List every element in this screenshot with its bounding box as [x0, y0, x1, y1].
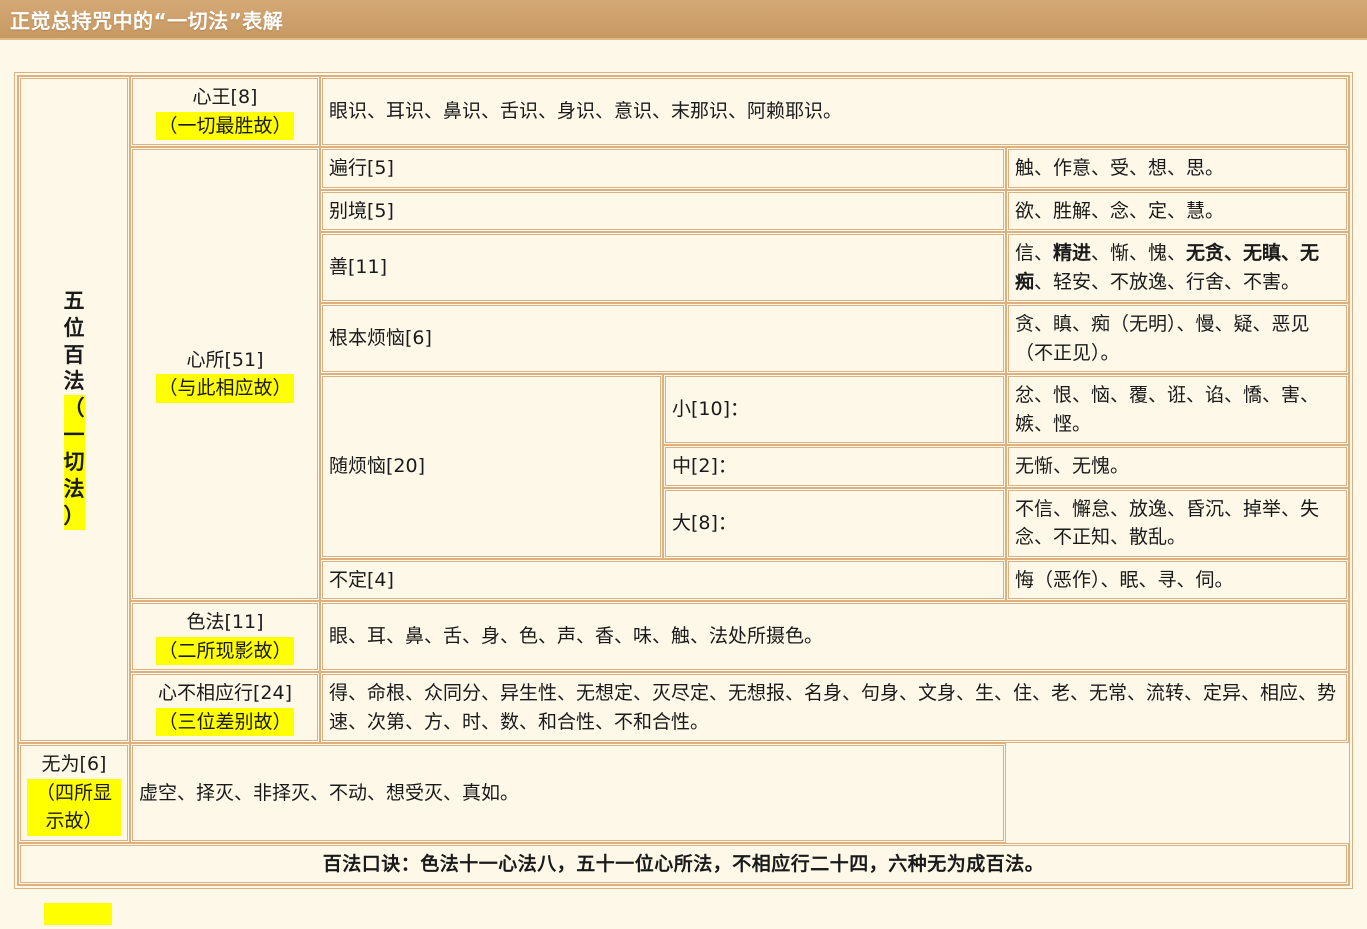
- category-cell-xinsuo: 心所[51] （与此相应故）: [130, 147, 320, 601]
- vertical-title: 五 位 百 法 （ 一 切 法 ）: [64, 288, 85, 530]
- shan-seg: 、惭、愧、: [1091, 242, 1186, 264]
- shan-seg: 、轻安、不放逸、行舍、不害。: [1034, 271, 1300, 293]
- content-xinbuxiangying: 得、命根、众同分、异生性、无想定、灭尽定、无想报、名身、句身、文身、生、住、老、…: [320, 672, 1349, 743]
- category-name: 心不相应行[24]: [139, 679, 311, 708]
- category-reason-highlight: （与此相应故）: [156, 374, 293, 403]
- category-name: 色法[11]: [139, 608, 311, 637]
- page-title: 正觉总持咒中的“一切法”表解: [10, 5, 283, 34]
- category-cell-xinwang: 心王[8] （一切最胜故）: [130, 76, 320, 147]
- spine-char: 法: [64, 368, 85, 395]
- spine-char-highlight: 法: [64, 476, 85, 503]
- spine-char-highlight: ）: [64, 503, 85, 530]
- content-wuwei: 虚空、择灭、非择灭、不动、想受灭、真如。: [130, 743, 1006, 843]
- sublabel-genbenfannao: 根本烦恼[6]: [320, 303, 1006, 374]
- table-row-mnemonic: 百法口诀：色法十一心法八，五十一位心所法，不相应行二十四，六种无为成百法。: [18, 843, 1349, 886]
- category-name: 无为[6]: [27, 750, 121, 779]
- shan-seg: 信、: [1015, 242, 1053, 264]
- category-reason-highlight: （四所显示故）: [27, 779, 121, 836]
- bottom-highlight-strip: [44, 903, 112, 925]
- sublabel-suifannao-da: 大[8]：: [663, 488, 1006, 559]
- content-bianxing: 触、作意、受、想、思。: [1006, 147, 1349, 190]
- table-row: 五 位 百 法 （ 一 切 法 ） 心王[8] （一切最胜故） 眼识、耳: [18, 76, 1349, 147]
- spine-cell-wuweibaifa: 五 位 百 法 （ 一 切 法 ）: [18, 76, 130, 743]
- sublabel-biejing: 别境[5]: [320, 190, 1006, 233]
- sublabel-shan: 善[11]: [320, 232, 1006, 303]
- category-cell-xinbuxiangying: 心不相应行[24] （三位差别故）: [130, 672, 320, 743]
- header-bar: 正觉总持咒中的“一切法”表解: [0, 0, 1367, 40]
- mnemonic-text: 百法口诀：色法十一心法八，五十一位心所法，不相应行二十四，六种无为成百法。: [18, 843, 1349, 886]
- table-row: 无为[6] （四所显示故） 虚空、择灭、非择灭、不动、想受灭、真如。: [18, 743, 1349, 843]
- spine-char-highlight: 一: [64, 422, 85, 449]
- category-reason-highlight: （一切最胜故）: [156, 112, 293, 141]
- sublabel-suifannao-zhong: 中[2]：: [663, 445, 1006, 488]
- sublabel-suifannao-xiao: 小[10]：: [663, 374, 1006, 445]
- content-suifannao-da: 不信、懈怠、放逸、昏沉、掉举、失念、不正知、散乱。: [1006, 488, 1349, 559]
- category-cell-sefa: 色法[11] （二所现影故）: [130, 601, 320, 672]
- bottom-highlight-strip-wrap: [0, 903, 1367, 929]
- content-suifannao-zhong: 无惭、无愧。: [1006, 445, 1349, 488]
- shan-seg-bold: 精进: [1053, 242, 1091, 264]
- content-shan: 信、精进、惭、愧、无贪、无瞋、无痴、轻安、不放逸、行舍、不害。: [1006, 232, 1349, 303]
- spine-char: 位: [64, 315, 85, 342]
- sublabel-buding: 不定[4]: [320, 559, 1006, 602]
- content-biejing: 欲、胜解、念、定、慧。: [1006, 190, 1349, 233]
- sublabel-suifannao: 随烦恼[20]: [320, 374, 663, 559]
- content-buding: 悔（恶作）、眠、寻、伺。: [1006, 559, 1349, 602]
- table-row: 心所[51] （与此相应故） 遍行[5] 触、作意、受、想、思。: [18, 147, 1349, 190]
- spine-char-highlight: 切: [64, 449, 85, 476]
- category-reason-highlight: （二所现影故）: [156, 637, 293, 666]
- table-container: 五 位 百 法 （ 一 切 法 ） 心王[8] （一切最胜故） 眼识、耳: [0, 40, 1367, 889]
- category-reason-highlight: （三位差别故）: [156, 708, 293, 737]
- content-genbenfannao: 贪、瞋、痴（无明）、慢、疑、恶见（不正见）。: [1006, 303, 1349, 374]
- spine-char: 百: [64, 342, 85, 369]
- sublabel-bianxing: 遍行[5]: [320, 147, 1006, 190]
- content-suifannao-xiao: 忿、恨、恼、覆、诳、谄、憍、害、嫉、悭。: [1006, 374, 1349, 445]
- table-row: 色法[11] （二所现影故） 眼、耳、鼻、舌、身、色、声、香、味、触、法处所摄色…: [18, 601, 1349, 672]
- spine-char: 五: [64, 288, 85, 315]
- spine-char-highlight: （: [64, 395, 85, 422]
- content-sefa: 眼、耳、鼻、舌、身、色、声、香、味、触、法处所摄色。: [320, 601, 1349, 672]
- category-cell-wuwei: 无为[6] （四所显示故）: [18, 743, 130, 843]
- table-row: 心不相应行[24] （三位差别故） 得、命根、众同分、异生性、无想定、灭尽定、无…: [18, 672, 1349, 743]
- table-body: 五 位 百 法 （ 一 切 法 ） 心王[8] （一切最胜故） 眼识、耳: [18, 76, 1349, 885]
- category-name: 心所[51]: [139, 346, 311, 375]
- content-xinwang: 眼识、耳识、鼻识、舌识、身识、意识、末那识、阿赖耶识。: [320, 76, 1349, 147]
- hundred-dharmas-table: 五 位 百 法 （ 一 切 法 ） 心王[8] （一切最胜故） 眼识、耳: [14, 72, 1353, 889]
- category-name: 心王[8]: [139, 83, 311, 112]
